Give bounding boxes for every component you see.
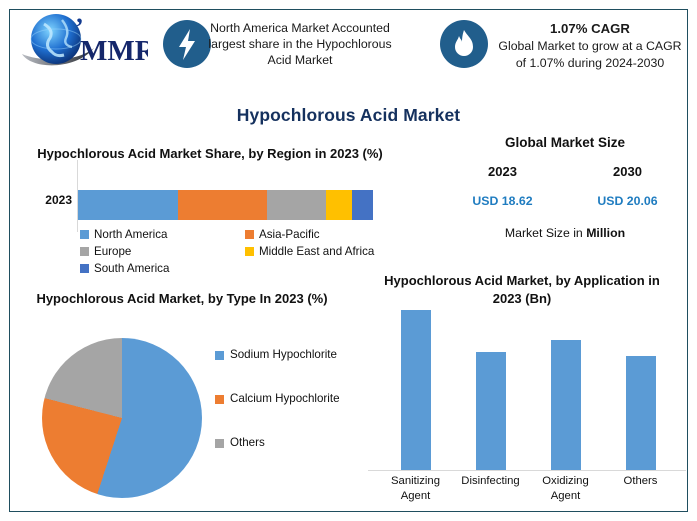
region-legend-label: Asia-Pacific	[259, 228, 320, 241]
region-category-label: 2023	[22, 193, 72, 207]
legend-swatch-icon	[80, 247, 89, 256]
legend-swatch-icon	[80, 230, 89, 239]
market-size-value-2030: USD 20.06	[565, 194, 690, 208]
region-legend-label: North America	[94, 228, 167, 241]
cagr-headline: 1.07% CAGR	[492, 20, 688, 37]
type-legend-label: Calcium Hypochlorite	[230, 392, 340, 405]
global-market-size-panel: Global Market Size 2023 2030 USD 18.62 U…	[440, 135, 690, 240]
region-segment-2	[267, 190, 326, 220]
header-callout-north-america: North America Market Accounted largest s…	[202, 20, 398, 69]
page-title: Hypochlorous Acid Market	[0, 105, 697, 126]
header-callout-1-text: North America Market Accounted largest s…	[208, 21, 391, 67]
header-callout-cagr: 1.07% CAGR Global Market to grow at a CA…	[492, 20, 688, 71]
application-bar	[401, 310, 431, 470]
application-bar	[626, 356, 656, 470]
type-legend-label: Others	[230, 436, 265, 449]
type-legend-item: Others	[215, 436, 380, 480]
infographic-root: ’ MMR North America Market Accounted lar…	[0, 0, 697, 521]
application-bar-column	[378, 310, 453, 470]
legend-swatch-icon	[80, 264, 89, 273]
legend-swatch-icon	[245, 247, 254, 256]
legend-swatch-icon	[245, 230, 254, 239]
region-segment-3	[326, 190, 353, 220]
region-segment-1	[178, 190, 267, 220]
region-legend-item: North America	[80, 226, 245, 243]
application-bar-column	[528, 310, 603, 470]
application-bars	[378, 310, 678, 470]
type-legend-item: Calcium Hypochlorite	[215, 392, 380, 436]
region-legend-item: Asia-Pacific	[245, 226, 410, 243]
type-legend-label: Sodium Hypochlorite	[230, 348, 337, 361]
market-size-value-2023: USD 18.62	[440, 194, 565, 208]
type-legend-item: Sodium Hypochlorite	[215, 348, 380, 392]
market-size-unit: Market Size in Million	[440, 226, 690, 240]
application-category-labels: Sanitizing AgentDisinfectingOxidizing Ag…	[378, 474, 678, 503]
application-bar-column	[603, 310, 678, 470]
application-chart-title: Hypochlorous Acid Market, by Application…	[372, 272, 672, 307]
region-segment-0	[78, 190, 178, 220]
market-size-year-2023: 2023	[440, 164, 565, 179]
header-callout-2-text: Global Market to grow at a CAGR of 1.07%…	[498, 39, 681, 69]
region-legend-item: Europe	[80, 243, 245, 260]
legend-swatch-icon	[215, 439, 224, 448]
application-category-label: Sanitizing Agent	[378, 474, 453, 503]
region-chart-legend: North AmericaAsia-PacificEuropeMiddle Ea…	[80, 226, 410, 277]
legend-swatch-icon	[215, 351, 224, 360]
region-legend-item: South America	[80, 260, 245, 277]
market-size-unit-value: Million	[586, 226, 625, 240]
type-chart-title: Hypochlorous Acid Market, by Type In 202…	[22, 290, 342, 308]
region-legend-item: Middle East and Africa	[245, 243, 410, 260]
application-bar	[476, 352, 506, 470]
region-legend-label: South America	[94, 262, 169, 275]
region-chart-title: Hypochlorous Acid Market Share, by Regio…	[30, 145, 390, 163]
region-legend-label: Middle East and Africa	[259, 245, 374, 258]
application-category-label: Others	[603, 474, 678, 503]
region-legend-label: Europe	[94, 245, 131, 258]
application-bar-column	[453, 310, 528, 470]
mmr-logo: ’ MMR	[18, 8, 148, 78]
market-size-year-2030: 2030	[565, 164, 690, 179]
application-category-label: Disinfecting	[453, 474, 528, 503]
flame-icon	[440, 20, 488, 68]
logo-text: MMR	[80, 35, 148, 67]
type-chart-legend: Sodium HypochloriteCalcium HypochloriteO…	[215, 348, 380, 480]
type-pie-chart	[42, 338, 202, 498]
application-bar	[551, 340, 581, 470]
region-stacked-bar	[78, 190, 373, 220]
market-size-unit-prefix: Market Size in	[505, 226, 586, 240]
application-category-label: Oxidizing Agent	[528, 474, 603, 503]
region-segment-4	[352, 190, 373, 220]
application-chart-baseline	[368, 470, 686, 471]
legend-swatch-icon	[215, 395, 224, 404]
global-market-size-heading: Global Market Size	[440, 135, 690, 150]
